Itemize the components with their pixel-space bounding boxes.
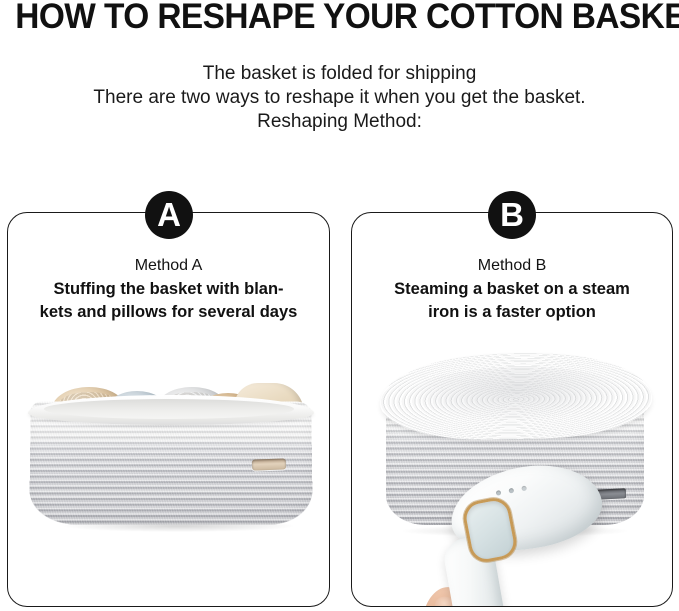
basket-handle-slot — [252, 458, 286, 470]
method-b-caption: Method B Steaming a basket on a steam ir… — [351, 255, 673, 324]
basket-rim-inner — [44, 399, 294, 419]
method-badge-a: A — [145, 191, 193, 239]
method-a-caption: Method A Stuffing the basket with blan- … — [7, 255, 330, 324]
indicator-dot — [496, 490, 502, 496]
basket-rim — [28, 395, 314, 425]
method-a-body-line-1: Stuffing the basket with blan- — [7, 278, 330, 301]
page-title: HOW TO RESHAPE YOUR COTTON BASKET — [15, 0, 663, 36]
cotton-basket-filled — [30, 381, 312, 526]
basket-opening — [379, 350, 653, 442]
method-b-body-line-2: iron is a faster option — [351, 301, 673, 324]
method-a-body-line-2: kets and pillows for several days — [7, 301, 330, 324]
subtitle-line-1: The basket is folded for shipping — [0, 62, 679, 86]
subtitle-line-2: There are two ways to reshape it when yo… — [0, 86, 679, 110]
method-a-body: Stuffing the basket with blan- kets and … — [7, 278, 330, 324]
method-b-body-line-1: Steaming a basket on a steam — [351, 278, 673, 301]
method-a-title: Method A — [7, 255, 330, 277]
method-b-title: Method B — [351, 255, 673, 277]
subtitle-line-3: Reshaping Method: — [0, 110, 679, 134]
indicator-dot — [521, 485, 527, 491]
subtitle-block: The basket is folded for shipping There … — [0, 62, 679, 134]
method-b-body: Steaming a basket on a steam iron is a f… — [351, 278, 673, 324]
method-badge-b: B — [488, 191, 536, 239]
indicator-dot — [508, 488, 514, 494]
garment-steamer — [440, 461, 620, 606]
